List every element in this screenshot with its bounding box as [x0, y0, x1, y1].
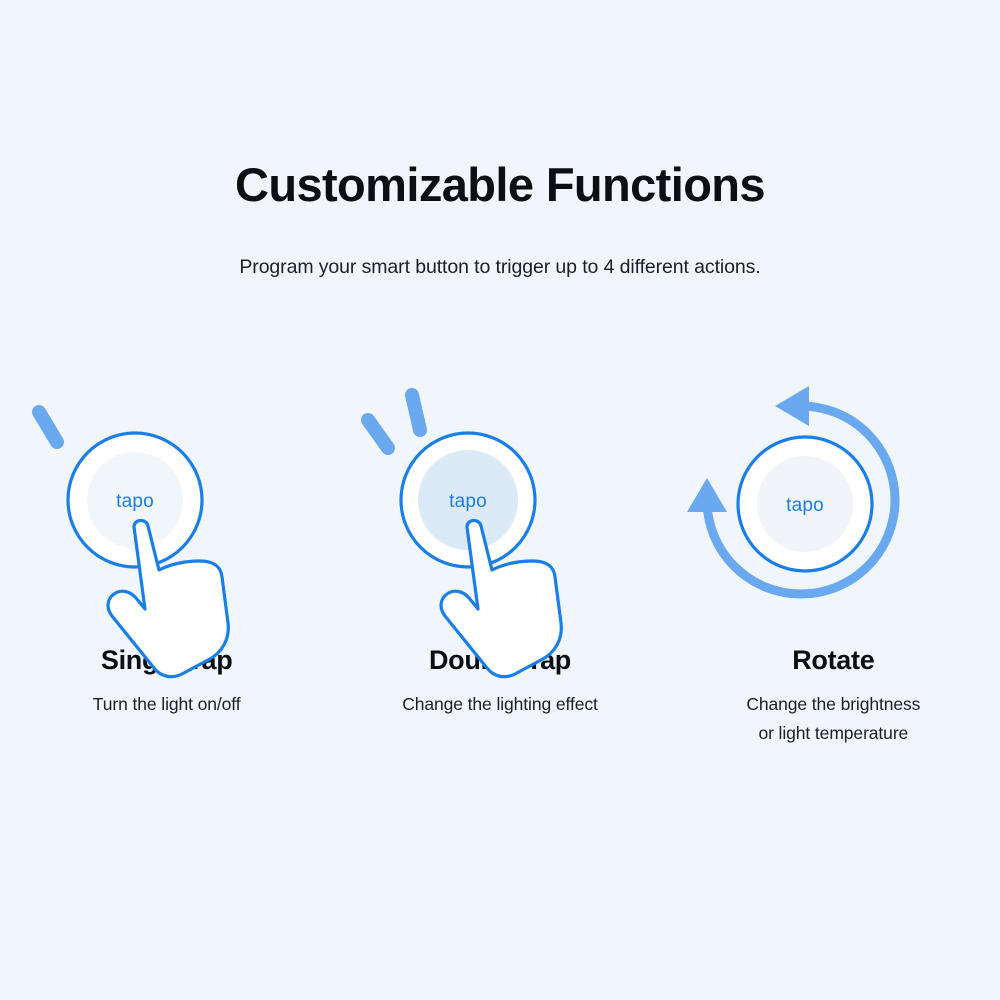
- feature-desc-line1: Change the lighting effect: [402, 694, 598, 714]
- feature-desc-line1: Change the brightness: [746, 694, 920, 714]
- tapo-button-circle: tapo: [68, 433, 202, 567]
- tapo-wordmark: tapo: [449, 491, 487, 512]
- feature-double-tap: tapo Double Tap Change the lighting effe…: [333, 370, 666, 748]
- tap-tick-marks: [368, 395, 420, 448]
- feature-description: Change the brightness or light temperatu…: [746, 690, 920, 748]
- tapo-button-circle: tapo: [738, 437, 872, 571]
- feature-rotate: tapo Rotate Change the brightness or lig…: [667, 370, 1000, 748]
- feature-description: Change the lighting effect: [402, 690, 598, 719]
- double-tap-icon: tapo: [350, 370, 650, 645]
- rotate-icon: tapo: [683, 370, 983, 645]
- page-subtitle: Program your smart button to trigger up …: [0, 209, 1000, 279]
- feature-desc-line1: Turn the light on/off: [93, 694, 241, 714]
- feature-columns: tapo Single Tap Turn the light on/off: [0, 370, 1000, 748]
- tap-tick-marks: [39, 412, 57, 442]
- feature-title: Rotate: [746, 647, 920, 674]
- header: Customizable Functions Program your smar…: [0, 160, 1000, 279]
- feature-single-tap: tapo Single Tap Turn the light on/off: [0, 370, 333, 748]
- feature-description: Turn the light on/off: [93, 690, 241, 719]
- tapo-wordmark: tapo: [116, 491, 154, 512]
- page-title: Customizable Functions: [0, 160, 1000, 209]
- single-tap-icon: tapo: [17, 370, 317, 645]
- feature-desc-line2: or light temperature: [746, 719, 920, 748]
- tapo-button-circle: tapo: [401, 433, 535, 567]
- tapo-wordmark: tapo: [786, 495, 824, 516]
- infographic-page: Customizable Functions Program your smar…: [0, 0, 1000, 1000]
- caption-rotate: Rotate Change the brightness or light te…: [746, 647, 920, 748]
